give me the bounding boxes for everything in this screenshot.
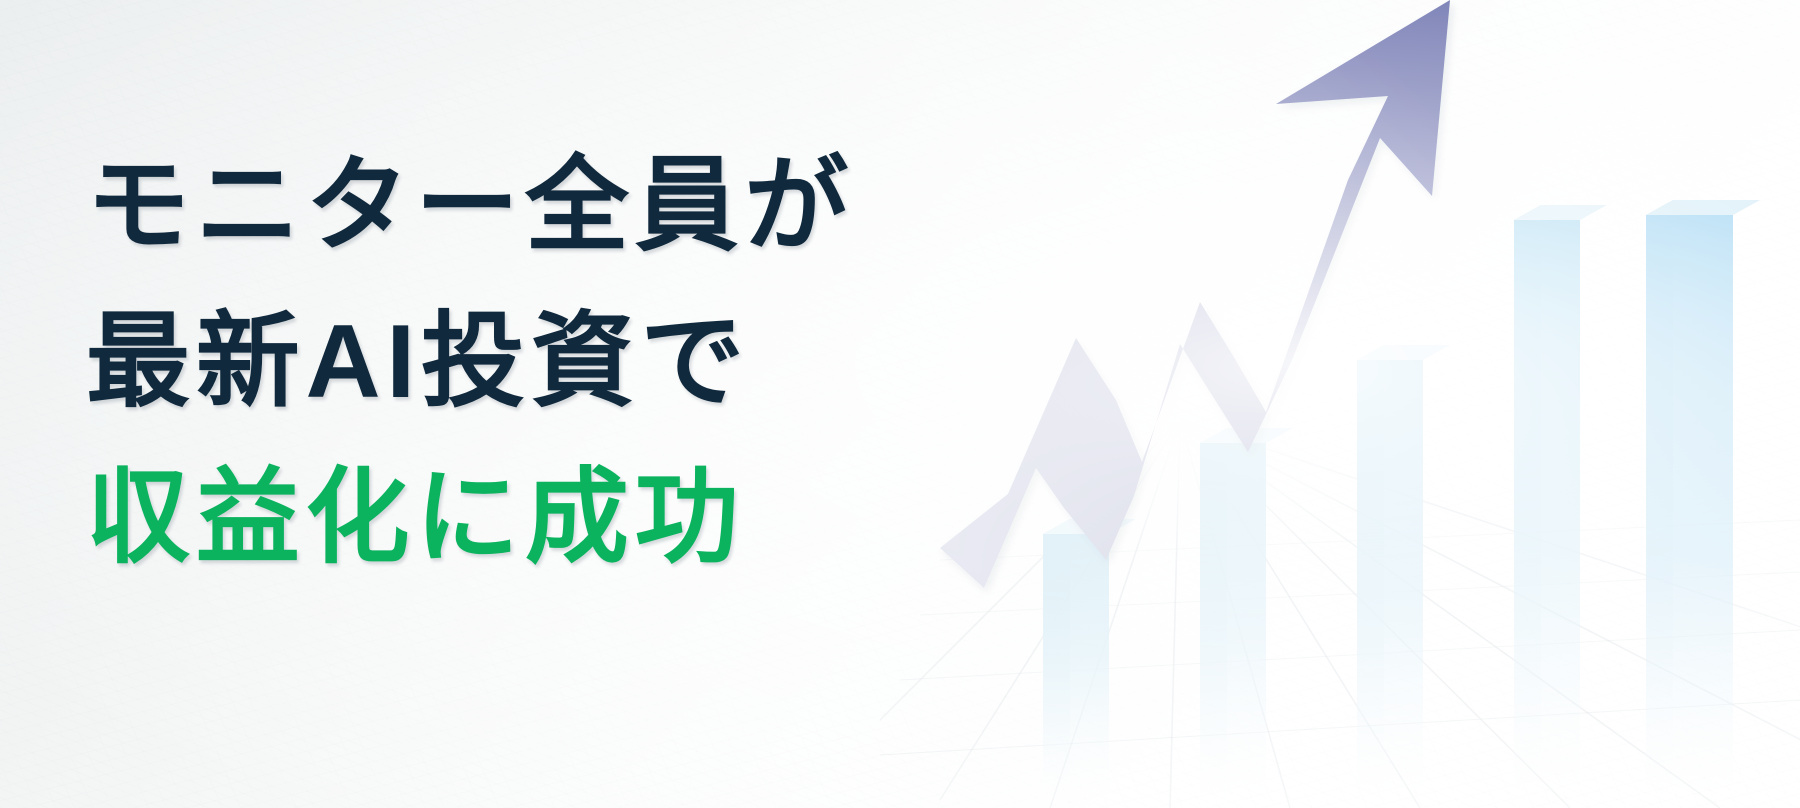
chart-bar-3-top bbox=[1357, 345, 1450, 360]
chart-bar-4-front bbox=[1514, 220, 1580, 808]
chart-bar-3 bbox=[1357, 345, 1450, 808]
chart-bar-1 bbox=[1043, 519, 1136, 808]
chart-bar-1-front bbox=[1043, 534, 1109, 808]
chart-bar-5-top bbox=[1646, 200, 1760, 215]
promo-banner: モニター全員が 最新AI投資で 収益化に成功 bbox=[0, 0, 1800, 808]
chart-bar-5 bbox=[1646, 200, 1760, 808]
chart-bar-5-front bbox=[1646, 215, 1733, 808]
chart-bar-2 bbox=[1200, 428, 1293, 808]
headline-line-2: 最新AI投資で bbox=[86, 284, 1046, 440]
headline-line-1: モニター全員が bbox=[86, 128, 1046, 284]
chart-bar-3-front bbox=[1357, 360, 1423, 808]
chart-bar-2-front bbox=[1200, 443, 1266, 808]
headline-line-3: 収益化に成功 bbox=[86, 440, 1046, 596]
headline-block: モニター全員が 最新AI投資で 収益化に成功 bbox=[86, 128, 1046, 596]
chart-bar-4-top bbox=[1514, 205, 1607, 220]
